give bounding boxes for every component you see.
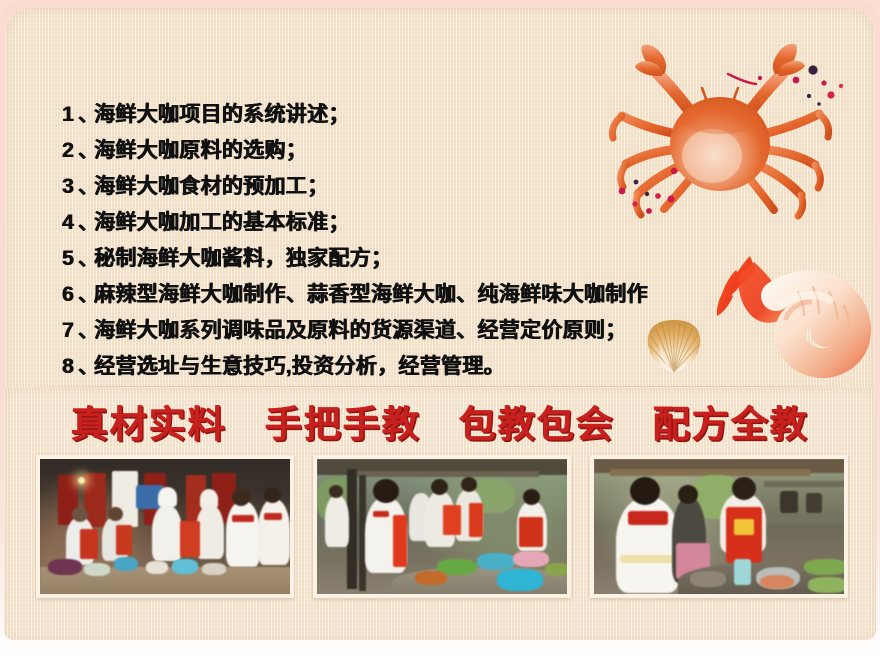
list-item: 5 、 秘制海鲜大咖酱料，独家配方； (62, 244, 852, 280)
list-item-separator: 、 (78, 100, 94, 130)
list-item-number: 7 (62, 316, 78, 346)
slogan-word-1: 真材实料 (71, 394, 227, 448)
seafood-course-poster: 1 、 海鲜大咖项目的系统讲述； 2 、 海鲜大咖原料的选购； 3 、 海鲜大咖… (0, 0, 880, 660)
list-item-text: 秘制海鲜大咖酱料，独家配方； (94, 244, 392, 274)
slogan-word-2: 手把手教 (265, 394, 421, 448)
list-item-text: 海鲜大咖加工的基本标准； (94, 208, 350, 238)
list-item: 7 、 海鲜大咖系列调味品及原料的货源渠道、经营定价原则； (62, 316, 852, 352)
list-item-separator: 、 (78, 172, 94, 202)
list-item-number: 1 (62, 100, 78, 130)
list-item-number: 5 (62, 244, 78, 274)
list-item: 3 、 海鲜大咖食材的预加工； (62, 172, 852, 208)
list-item: 2 、 海鲜大咖原料的选购； (62, 136, 852, 172)
list-item: 6 、 麻辣型海鲜大咖制作、蒜香型海鲜大咖、纯海鲜味大咖制作 (62, 280, 852, 316)
photo-chef-demonstration (590, 455, 848, 598)
photo-indoor-cooking-class (36, 455, 294, 598)
list-item-number: 8 (62, 352, 78, 382)
list-item-text: 麻辣型海鲜大咖制作、蒜香型海鲜大咖、纯海鲜味大咖制作 (94, 280, 648, 310)
list-item-number: 4 (62, 208, 78, 238)
list-item-separator: 、 (78, 280, 94, 310)
list-item-separator: 、 (78, 244, 94, 274)
list-item: 1 、 海鲜大咖项目的系统讲述； (62, 100, 852, 136)
list-item-text: 海鲜大咖系列调味品及原料的货源渠道、经营定价原则； (94, 316, 627, 346)
slogan-word-3: 包教包会 (459, 394, 615, 448)
list-item-separator: 、 (78, 316, 94, 346)
slogan-divider (18, 386, 862, 387)
list-item-text: 海鲜大咖食材的预加工； (94, 172, 328, 202)
list-item-text: 海鲜大咖原料的选购； (94, 136, 307, 166)
list-item: 8 、 经营选址与生意技巧,投资分析，经营管理。 (62, 352, 852, 388)
slogan-word-4: 配方全教 (653, 394, 809, 448)
list-item-number: 6 (62, 280, 78, 310)
photo-strip (36, 455, 848, 598)
list-item-separator: 、 (78, 352, 94, 382)
list-item-number: 2 (62, 136, 78, 166)
list-item-number: 3 (62, 172, 78, 202)
list-item-text: 经营选址与生意技巧,投资分析，经营管理。 (94, 352, 505, 382)
list-item-text: 海鲜大咖项目的系统讲述； (94, 100, 350, 130)
curriculum-list: 1 、 海鲜大咖项目的系统讲述； 2 、 海鲜大咖原料的选购； 3 、 海鲜大咖… (62, 100, 852, 388)
photo-outdoor-kitchen-training (313, 455, 571, 598)
slogan-banner: 真材实料 手把手教 包教包会 配方全教 (0, 392, 880, 450)
list-item: 4 、 海鲜大咖加工的基本标准； (62, 208, 852, 244)
list-item-separator: 、 (78, 208, 94, 238)
list-item-separator: 、 (78, 136, 94, 166)
